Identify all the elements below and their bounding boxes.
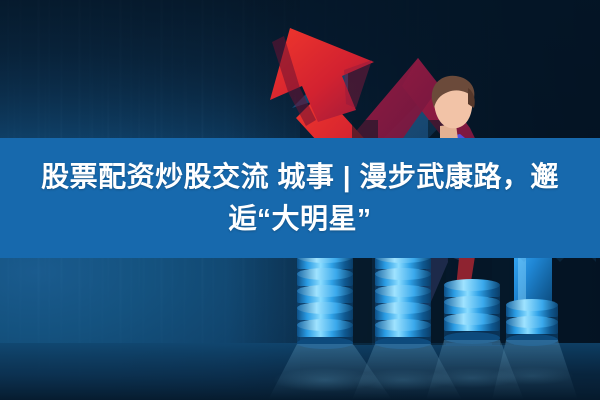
title-band: 股票配资炒股交流 城事 | 漫步武康路，邂逅“大明星”	[0, 138, 600, 258]
floor-light-rays	[268, 340, 578, 400]
page-title: 股票配资炒股交流 城事 | 漫步武康路，邂逅“大明星”	[10, 156, 590, 240]
cover-image: 股票配资炒股交流 城事 | 漫步武康路，邂逅“大明星”	[0, 0, 600, 400]
